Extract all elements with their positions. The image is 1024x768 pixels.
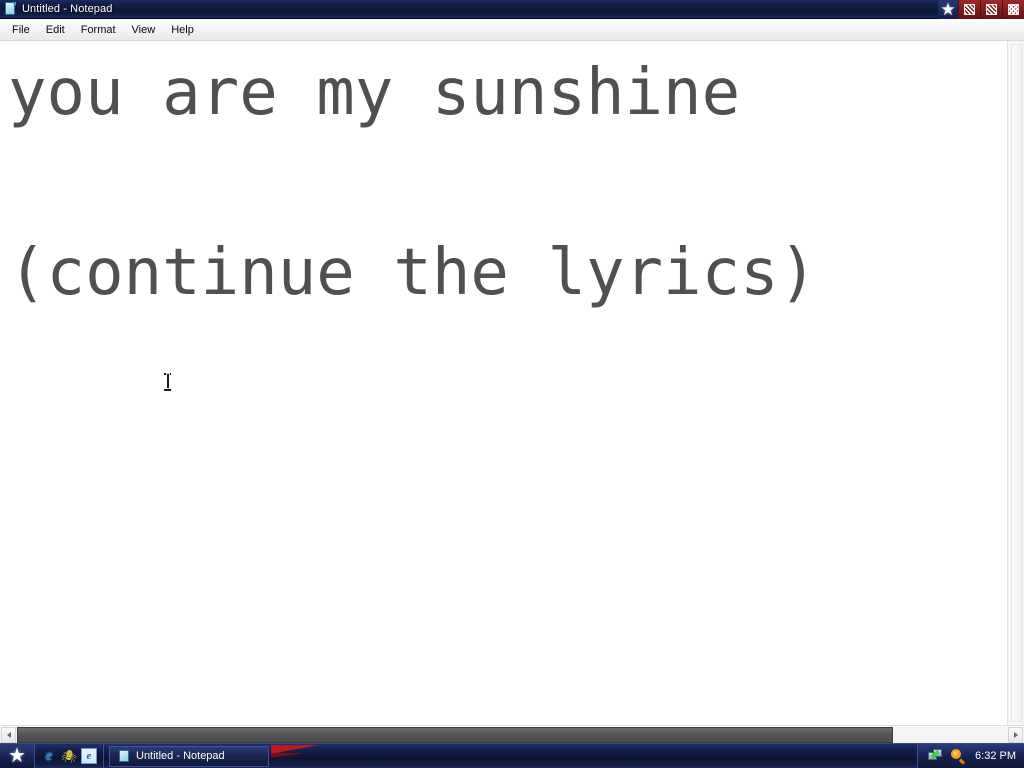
close-button[interactable]	[1002, 0, 1024, 19]
editor-content[interactable]: you are my sunshine (continue the lyrics…	[8, 48, 1008, 318]
star-icon[interactable]: ★	[938, 0, 958, 19]
taskbar: ★ e 🕷 e Untitled - Notepad ⬋	[0, 743, 1024, 768]
menu-item-view[interactable]: View	[124, 22, 164, 38]
internet-explorer-icon[interactable]: e	[41, 748, 57, 764]
taskbar-empty-area	[329, 744, 917, 768]
vertical-scrollbar[interactable]	[1007, 41, 1024, 725]
network-icon[interactable]: ⬋	[928, 749, 944, 763]
menu-item-format[interactable]: Format	[73, 22, 124, 38]
quick-launch-bar: e 🕷 e	[34, 744, 104, 768]
menu-bar: File Edit Format View Help	[0, 19, 1024, 41]
system-tray: ⬋ 6:32 PM	[917, 744, 1024, 768]
notepad-document-icon	[118, 750, 131, 763]
horizontal-scrollbar-track[interactable]	[17, 727, 1007, 743]
window-controls	[958, 0, 1024, 19]
menu-item-file[interactable]: File	[4, 22, 38, 38]
taskbar-task-notepad[interactable]: Untitled - Notepad	[109, 746, 269, 767]
window-title-bar[interactable]: Untitled - Notepad ★	[0, 0, 1024, 19]
start-button[interactable]: ★	[0, 744, 34, 768]
horizontal-scrollbar[interactable]	[0, 725, 1024, 743]
search-icon[interactable]	[951, 749, 966, 764]
scroll-right-button[interactable]	[1008, 727, 1023, 743]
menu-item-edit[interactable]: Edit	[38, 22, 73, 38]
horizontal-scrollbar-thumb[interactable]	[17, 727, 893, 743]
vertical-scrollbar-track[interactable]	[1011, 44, 1022, 722]
taskbar-task-label: Untitled - Notepad	[136, 750, 225, 762]
scroll-left-button[interactable]	[1, 727, 16, 743]
desktop-screen: Untitled - Notepad ★ File Edit Format Vi…	[0, 0, 1024, 768]
text-editor-area[interactable]: you are my sunshine (continue the lyrics…	[0, 41, 1024, 743]
taskbar-clock[interactable]: 6:32 PM	[973, 750, 1016, 762]
window-title: Untitled - Notepad	[22, 3, 112, 15]
bug-icon[interactable]: 🕷	[61, 748, 77, 764]
menu-item-help[interactable]: Help	[163, 22, 202, 38]
internet-explorer-box-icon[interactable]: e	[81, 748, 97, 764]
notepad-document-icon	[3, 2, 17, 16]
minimize-button[interactable]	[958, 0, 980, 19]
flag-decoration	[271, 744, 329, 768]
start-star-icon: ★	[8, 747, 26, 765]
maximize-button[interactable]	[980, 0, 1002, 19]
